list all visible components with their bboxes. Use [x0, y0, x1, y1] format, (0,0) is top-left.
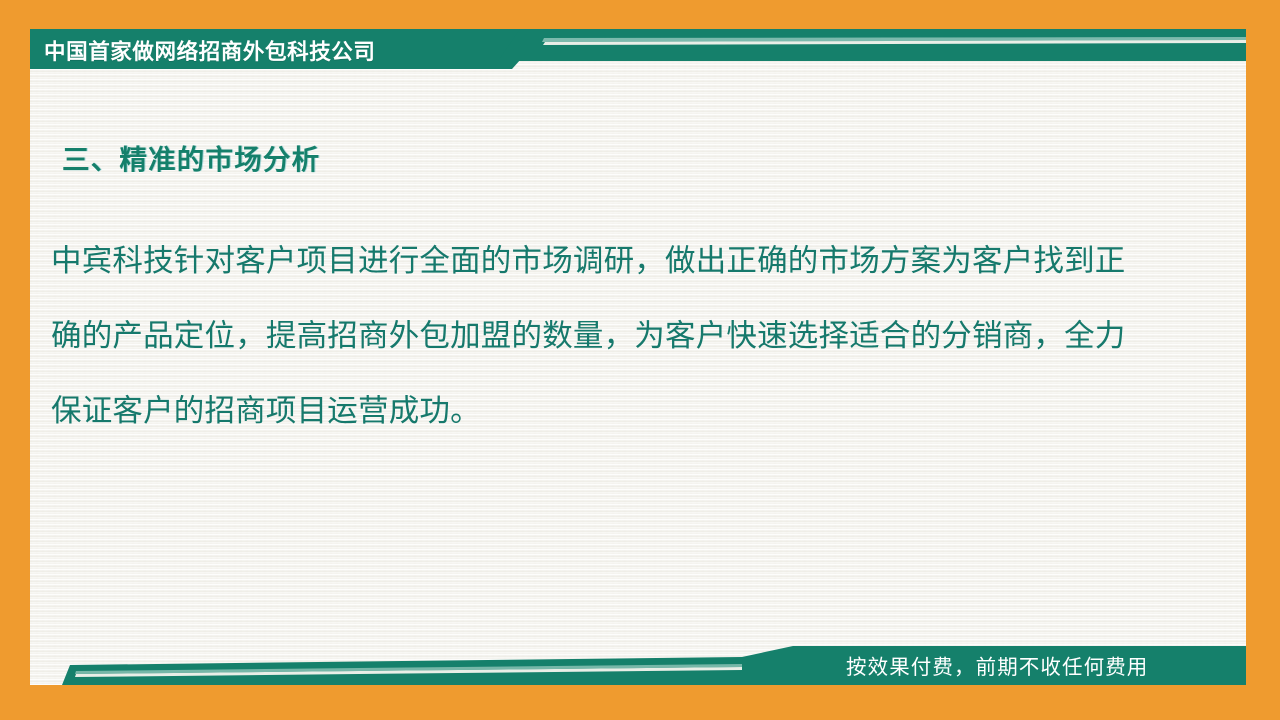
body-line-1: 中宾科技针对客户项目进行全面的市场调研，做出正确的市场方案为客户找到正	[51, 224, 1183, 299]
body-line-2: 确的产品定位，提高招商外包加盟的数量，为客户快速选择适合的分销商，全力	[51, 299, 1183, 374]
slide-root: 中国首家做网络招商外包科技公司 三、精准的市场分析 中宾科技针对客户项目进行全面…	[0, 0, 1280, 720]
header-title: 中国首家做网络招商外包科技公司	[44, 33, 514, 67]
section-title: 三、精准的市场分析	[62, 137, 320, 177]
body-paragraph: 中宾科技针对客户项目进行全面的市场调研，做出正确的市场方案为客户找到正 确的产品…	[51, 224, 1183, 449]
header-bar	[498, 29, 1246, 61]
footer-tagline: 按效果付费，前期不收任何费用	[846, 650, 1216, 680]
body-line-3: 保证客户的招商项目运营成功。	[51, 374, 1183, 449]
